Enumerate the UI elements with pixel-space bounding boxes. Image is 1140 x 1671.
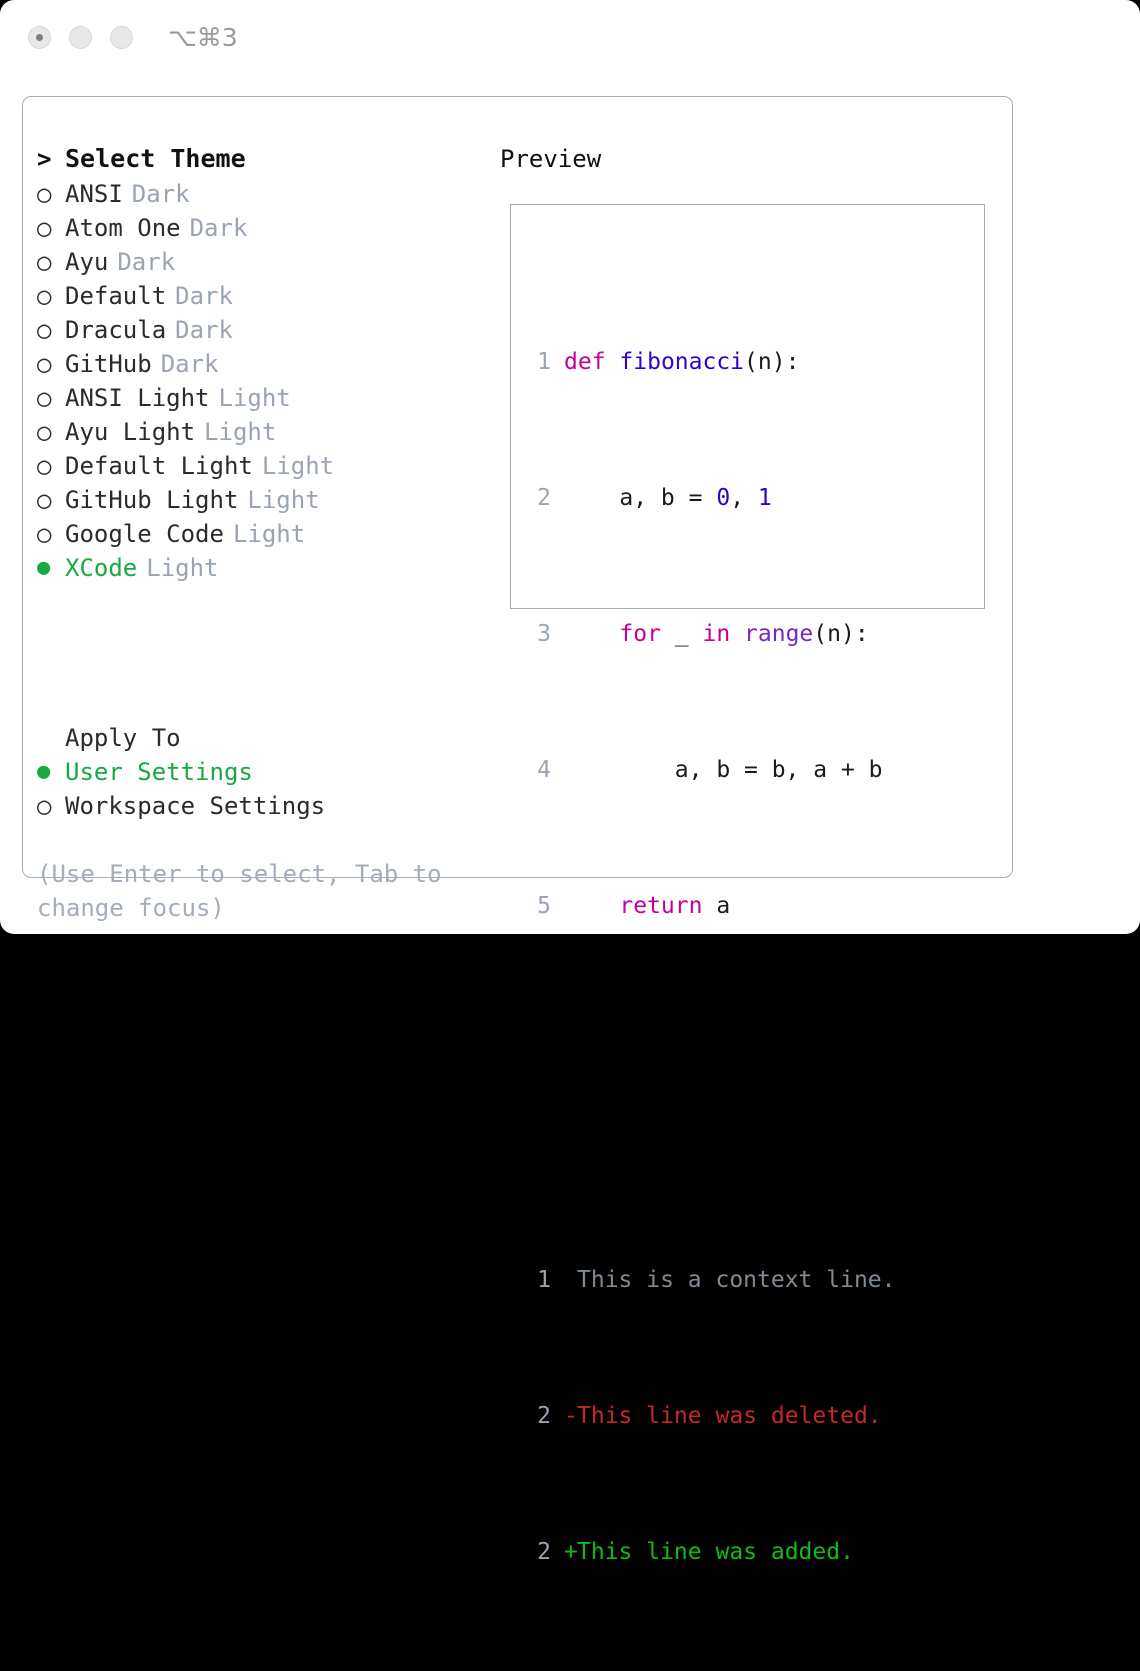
radio-unselected-icon: ○	[37, 177, 65, 211]
line-number: 3	[525, 617, 551, 651]
keyboard-hint-text: (Use Enter to select, Tab to change focu…	[37, 857, 457, 925]
theme-name: ANSI	[65, 177, 123, 211]
line-number: 1	[525, 1263, 551, 1297]
theme-name: Ayu	[65, 245, 108, 279]
theme-item-ayu-light[interactable]: ○ Ayu Light Light	[37, 415, 507, 449]
apply-option-user-settings[interactable]: ● User Settings	[37, 755, 507, 789]
theme-kind-badge: Dark	[175, 313, 233, 347]
code-spacer	[525, 1025, 896, 1059]
code-line: 1def fibonacci(n):	[525, 345, 896, 379]
theme-item-ansi[interactable]: ○ ANSI Dark	[37, 177, 507, 211]
code-token-keyword: for	[619, 621, 661, 647]
title-bar: ⌥⌘3	[0, 0, 1140, 78]
apply-option-label: User Settings	[65, 755, 253, 789]
theme-kind-badge: Light	[204, 415, 276, 449]
theme-item-ansi-light[interactable]: ○ ANSI Light Light	[37, 381, 507, 415]
code-token-text: a	[702, 893, 730, 919]
diff-line-deleted: 2-This line was deleted.	[525, 1399, 896, 1433]
radio-selected-icon: ●	[37, 755, 65, 789]
diff-sign: -	[564, 1399, 577, 1433]
apply-option-workspace-settings[interactable]: ○ Workspace Settings	[37, 789, 507, 823]
diff-sign: +	[564, 1535, 577, 1569]
code-token-function: fibonacci	[619, 349, 744, 375]
radio-unselected-icon: ○	[37, 347, 65, 381]
prompt-caret-icon: >	[37, 141, 65, 177]
code-token-text: (n):	[744, 349, 799, 375]
theme-name: Google Code	[65, 517, 224, 551]
theme-kind-badge: Light	[247, 483, 319, 517]
apply-to-section: Apply To ● User Settings ○ Workspace Set…	[37, 721, 507, 823]
code-token-number: 1	[758, 485, 772, 511]
theme-kind-badge: Light	[219, 381, 291, 415]
diff-text: This line was deleted.	[577, 1403, 882, 1429]
code-line: 3 for _ in range(n):	[525, 617, 896, 651]
keyboard-shortcut-label: ⌥⌘3	[168, 22, 238, 54]
preview-box: 1def fibonacci(n): 2 a, b = 0, 1 3 for _…	[510, 204, 985, 609]
code-token-text: a, b = b, a + b	[564, 757, 883, 783]
radio-unselected-icon: ○	[37, 313, 65, 347]
zoom-button[interactable]	[110, 26, 133, 49]
theme-item-dracula[interactable]: ○ Dracula Dark	[37, 313, 507, 347]
line-number: 4	[525, 753, 551, 787]
diff-sign	[564, 1263, 577, 1297]
diff-line-context: 1 This is a context line.	[525, 1263, 896, 1297]
code-token-text	[564, 893, 619, 919]
line-number: 5	[525, 889, 551, 923]
theme-kind-badge: Dark	[190, 211, 248, 245]
theme-item-default-light[interactable]: ○ Default Light Light	[37, 449, 507, 483]
line-number: 1	[525, 345, 551, 379]
close-icon	[36, 34, 43, 41]
code-token-text	[730, 621, 744, 647]
line-number: 2	[525, 481, 551, 515]
theme-list: > Select Theme ○ ANSI Dark ○ Atom One Da…	[37, 141, 507, 585]
code-token-text	[606, 349, 620, 375]
preview-header: Preview	[500, 141, 601, 177]
theme-kind-badge: Dark	[132, 177, 190, 211]
code-token-keyword: in	[702, 621, 730, 647]
theme-kind-badge: Dark	[161, 347, 219, 381]
theme-item-default[interactable]: ○ Default Dark	[37, 279, 507, 313]
theme-item-xcode[interactable]: ● XCode Light	[37, 551, 507, 585]
traffic-light-group	[28, 26, 133, 49]
code-token-number: 0	[716, 485, 730, 511]
theme-name: XCode	[65, 551, 137, 585]
diff-text: This is a context line.	[577, 1267, 896, 1293]
main-panel: > Select Theme ○ ANSI Dark ○ Atom One Da…	[22, 96, 1013, 878]
line-number: 2	[525, 1535, 551, 1569]
theme-name: Ayu Light	[65, 415, 195, 449]
radio-unselected-icon: ○	[37, 517, 65, 551]
radio-unselected-icon: ○	[37, 279, 65, 313]
code-token-text	[564, 621, 619, 647]
line-number: 2	[525, 1399, 551, 1433]
theme-kind-badge: Dark	[117, 245, 175, 279]
radio-unselected-icon: ○	[37, 789, 65, 823]
theme-name: ANSI Light	[65, 381, 210, 415]
code-token-text: ,	[730, 485, 758, 511]
code-token-text: a, b =	[564, 485, 716, 511]
theme-item-google-code[interactable]: ○ Google Code Light	[37, 517, 507, 551]
theme-kind-badge: Light	[146, 551, 218, 585]
radio-unselected-icon: ○	[37, 381, 65, 415]
code-preview: 1def fibonacci(n): 2 a, b = 0, 1 3 for _…	[525, 243, 896, 1671]
radio-unselected-icon: ○	[37, 415, 65, 449]
theme-kind-badge: Light	[233, 517, 305, 551]
apply-option-label: Workspace Settings	[65, 789, 325, 823]
diff-text: This line was added.	[577, 1539, 854, 1565]
radio-unselected-icon: ○	[37, 211, 65, 245]
close-button[interactable]	[28, 26, 51, 49]
theme-name: GitHub	[65, 347, 152, 381]
radio-selected-icon: ●	[37, 551, 65, 585]
code-line: 4 a, b = b, a + b	[525, 753, 896, 787]
select-theme-title: Select Theme	[65, 141, 246, 177]
theme-item-github-light[interactable]: ○ GitHub Light Light	[37, 483, 507, 517]
theme-name: GitHub Light	[65, 483, 238, 517]
theme-name: Dracula	[65, 313, 166, 347]
radio-unselected-icon: ○	[37, 245, 65, 279]
code-token-text: _	[661, 621, 703, 647]
code-token-call: range	[744, 621, 813, 647]
code-line: 5 return a	[525, 889, 896, 923]
select-theme-header: > Select Theme	[37, 141, 507, 177]
theme-name: Atom One	[65, 211, 181, 245]
theme-item-atom-one[interactable]: ○ Atom One Dark	[37, 211, 507, 245]
app-window: ⌥⌘3 > Select Theme ○ ANSI Dark ○ Atom On…	[0, 0, 1140, 934]
theme-kind-badge: Light	[262, 449, 334, 483]
code-token-keyword: return	[619, 893, 702, 919]
theme-item-ayu[interactable]: ○ Ayu Dark	[37, 245, 507, 279]
theme-kind-badge: Dark	[175, 279, 233, 313]
minimize-button[interactable]	[69, 26, 92, 49]
diff-line-added: 2+This line was added.	[525, 1535, 896, 1569]
code-token-text: (n):	[813, 621, 868, 647]
code-line: 2 a, b = 0, 1	[525, 481, 896, 515]
code-token-keyword: def	[564, 349, 606, 375]
radio-unselected-icon: ○	[37, 483, 65, 517]
code-spacer	[525, 1127, 896, 1161]
theme-name: Default	[65, 279, 166, 313]
theme-name: Default Light	[65, 449, 253, 483]
radio-unselected-icon: ○	[37, 449, 65, 483]
theme-item-github[interactable]: ○ GitHub Dark	[37, 347, 507, 381]
apply-to-header: Apply To	[37, 721, 507, 755]
